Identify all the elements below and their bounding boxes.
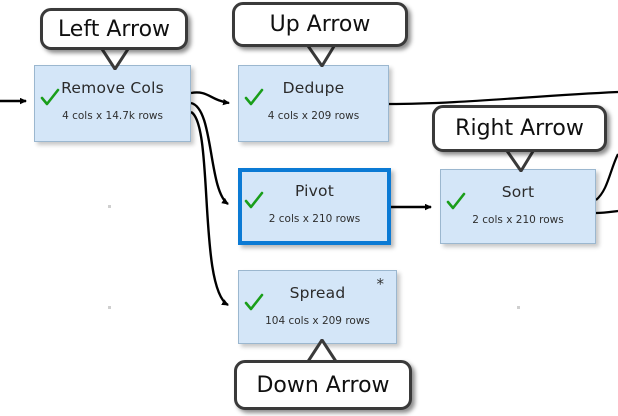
callout-label: Left Arrow — [58, 17, 170, 42]
node-subtitle: 2 cols x 210 rows — [441, 214, 595, 226]
check-icon — [244, 293, 264, 313]
edge-remove-cols-dedupe — [191, 92, 229, 103]
callout-right-arrow: Right Arrow — [432, 105, 607, 152]
node-sort[interactable]: Sort 2 cols x 210 rows — [440, 169, 596, 244]
callout-down-arrow: Down Arrow — [234, 360, 412, 410]
node-subtitle: 4 cols x 14.7k rows — [35, 110, 190, 122]
node-spread[interactable]: Spread 104 cols x 209 rows * — [238, 270, 397, 344]
grid-dot — [108, 205, 111, 208]
node-dedupe[interactable]: Dedupe 4 cols x 209 rows — [238, 65, 389, 142]
check-icon — [446, 192, 466, 212]
node-subtitle: 4 cols x 209 rows — [239, 110, 388, 122]
node-remove-cols[interactable]: Remove Cols 4 cols x 14.7k rows — [34, 65, 191, 142]
node-subtitle: 2 cols x 210 rows — [242, 213, 387, 225]
callout-label: Down Arrow — [256, 373, 389, 398]
edge-sort-out-lower — [596, 211, 618, 213]
callout-label: Right Arrow — [455, 116, 584, 141]
edge-dedupe-out — [389, 92, 618, 104]
edge-sort-out-upper — [596, 154, 618, 200]
flow-canvas[interactable]: Remove Cols 4 cols x 14.7k rows Dedupe 4… — [0, 0, 618, 416]
node-subtitle: 104 cols x 209 rows — [239, 315, 396, 327]
callout-up-arrow: Up Arrow — [232, 2, 408, 47]
callout-label: Up Arrow — [270, 12, 371, 37]
check-icon — [40, 88, 60, 108]
callout-left-arrow: Left Arrow — [40, 8, 188, 50]
modified-marker: * — [377, 277, 385, 292]
grid-dot — [517, 306, 520, 309]
check-icon — [244, 88, 264, 108]
check-icon — [244, 191, 264, 211]
grid-dot — [108, 306, 111, 309]
node-pivot[interactable]: Pivot 2 cols x 210 rows — [238, 168, 391, 245]
